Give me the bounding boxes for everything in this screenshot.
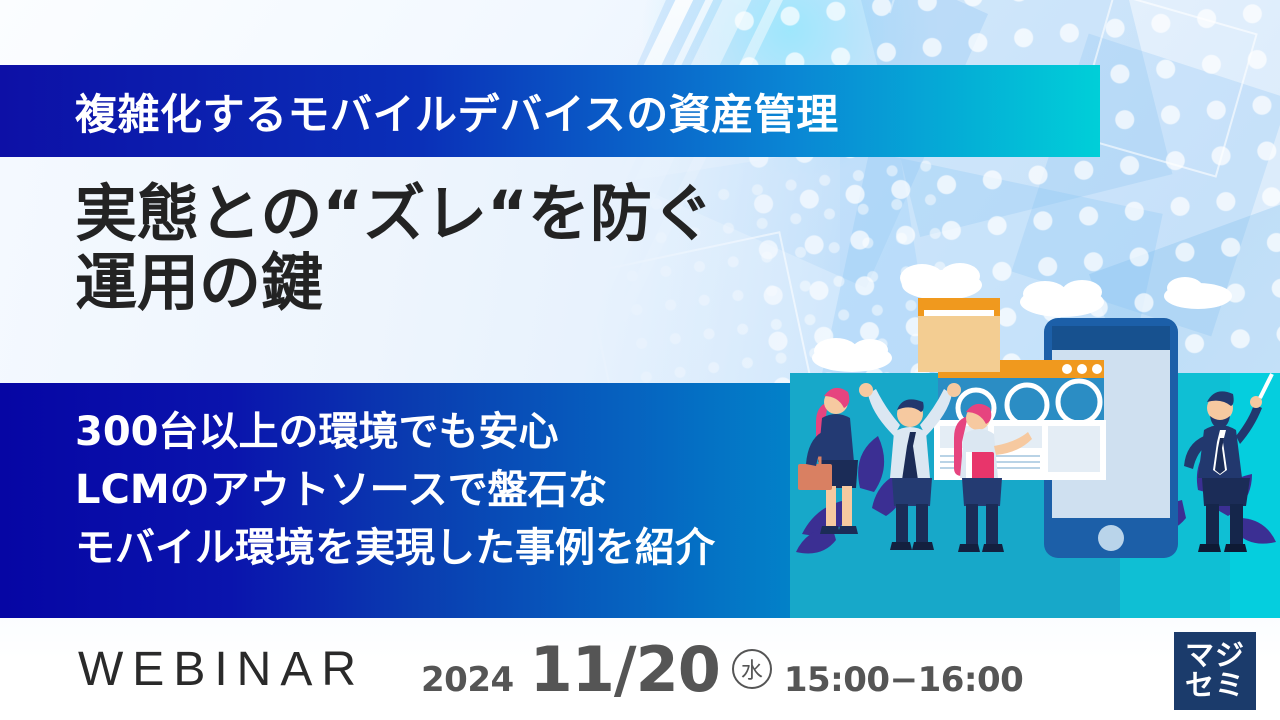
subtitle-line-2: LCMのアウトソースで盤石な xyxy=(75,461,715,519)
event-year: 2024 xyxy=(421,660,514,700)
event-date: 11/20 xyxy=(530,633,720,706)
event-day-of-week: 水 xyxy=(732,649,772,689)
logo-line-2: セミ xyxy=(1185,671,1245,701)
title-line-2: 運用の鍵 xyxy=(75,248,840,317)
majiseminar-logo: マジ セミ xyxy=(1174,632,1256,710)
folder-icon xyxy=(918,298,1000,372)
business-people-illustration xyxy=(790,250,1280,618)
eyebrow-text: 複雑化するモバイルデバイスの資産管理 xyxy=(75,81,839,142)
eyebrow-band: 複雑化するモバイルデバイスの資産管理 xyxy=(0,65,1100,157)
event-time: 15:00−16:00 xyxy=(784,660,1023,700)
title-line-1: 実態との“ズレ“を防ぐ xyxy=(75,179,840,248)
schedule-group: 2024 11/20 水 15:00−16:00 xyxy=(421,633,1023,706)
bg-outline-square-b xyxy=(1072,0,1258,178)
page-title: 実態との“ズレ“を防ぐ 運用の鍵 xyxy=(0,157,840,383)
subtitle-line-3: モバイル環境を実現した事例を紹介 xyxy=(75,519,715,577)
subtitle-group: 300台以上の環境でも安心 LCMのアウトソースで盤石な モバイル環境を実現した… xyxy=(75,403,715,577)
webinar-banner: 複雑化するモバイルデバイスの資産管理 実態との“ズレ“を防ぐ 運用の鍵 300台… xyxy=(0,0,1280,720)
subtitle-line-1: 300台以上の環境でも安心 xyxy=(75,403,715,461)
footer-bar: WEBINAR 2024 11/20 水 15:00−16:00 xyxy=(0,618,1280,720)
webinar-label: WEBINAR xyxy=(78,642,365,697)
logo-line-1: マジ xyxy=(1185,641,1245,671)
